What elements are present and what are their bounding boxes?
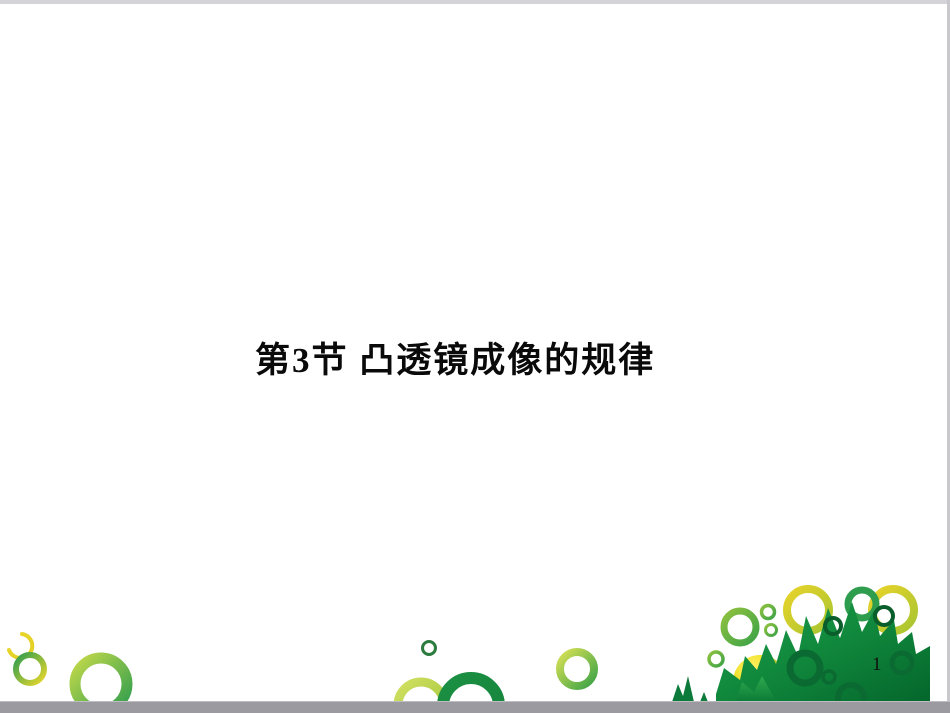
ring-tiny-leaf-left xyxy=(709,652,723,666)
page-title: 第3节 凸透镜成像的规律 xyxy=(255,343,655,378)
ring-leaf-dot-a xyxy=(762,606,775,619)
ring-on-leaf-e xyxy=(892,653,912,673)
maple-leaf-stem-tip xyxy=(672,676,694,702)
ring-on-leaf-d xyxy=(838,685,864,702)
window-bottom-bar xyxy=(0,701,950,713)
maple-leaf-lobe-left xyxy=(736,676,778,702)
ring-on-leaf-c xyxy=(823,671,835,683)
ring-yellow-arc-top xyxy=(787,589,829,631)
ring-leaf-dot-b xyxy=(766,625,777,636)
ring-on-leaf-b xyxy=(790,653,820,683)
ring-small-left xyxy=(16,655,44,683)
ring-yellow-arc-right xyxy=(872,589,914,631)
ring-cluster-left xyxy=(9,634,127,702)
ring-large-left xyxy=(75,658,127,702)
yellow-green-blob xyxy=(733,655,787,702)
slide-page-number: 1 xyxy=(872,654,882,676)
presentation-slide: 第3节 凸透镜成像的规律 1 xyxy=(0,0,950,713)
maple-leaf-shape xyxy=(716,602,930,702)
ring-cluster-middle xyxy=(398,642,594,703)
ring-leaf-upper-left xyxy=(724,611,756,643)
ring-dark-lower-mid xyxy=(443,678,499,702)
ring-on-leaf-f xyxy=(875,607,893,625)
ring-tiny-mid-left xyxy=(423,642,436,655)
ring-on-leaf-a xyxy=(825,618,841,634)
ring-cluster-near-leaf xyxy=(709,606,777,667)
slide-canvas: 第3节 凸透镜成像的规律 1 xyxy=(0,4,947,702)
slide-title-block: 第3节 凸透镜成像的规律 xyxy=(255,330,715,390)
ring-green-arc-right xyxy=(848,590,876,618)
ring-yellow-arc-group xyxy=(787,589,914,631)
ring-cluster-on-leaf xyxy=(790,607,912,702)
ring-pale-lower-mid xyxy=(398,682,444,702)
ring-mid-right xyxy=(560,652,594,686)
